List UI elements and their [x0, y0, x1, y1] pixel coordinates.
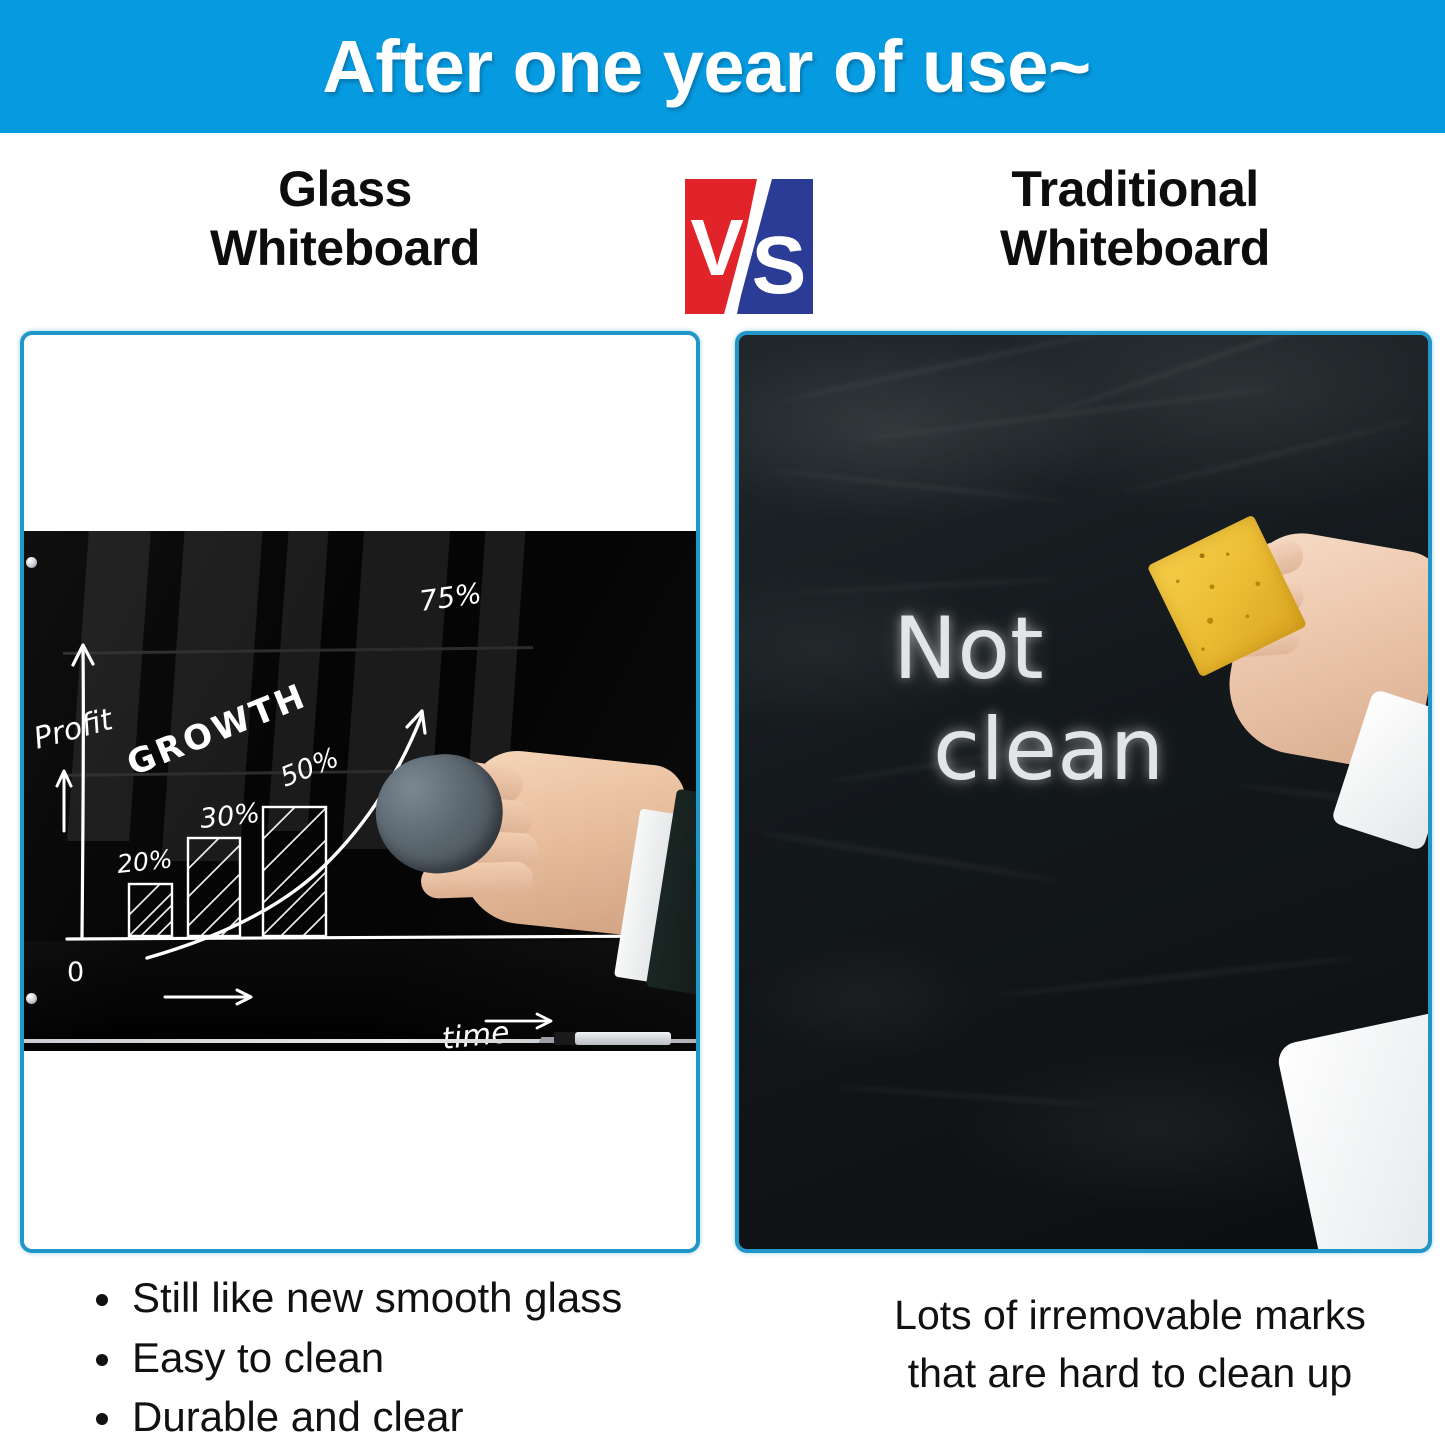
- glass-whiteboard-panel: Profit time GROWTH 20% 30% 50% 75% time …: [20, 331, 700, 1253]
- vs-badge-icon: V S: [679, 175, 819, 318]
- vs-badge-v-letter: V: [690, 203, 743, 292]
- chalk-text-line1: Not: [893, 599, 1044, 699]
- right-column-title: Traditional Whiteboard: [835, 160, 1435, 278]
- traditional-whiteboard-panel: Not clean: [735, 331, 1432, 1253]
- vs-badge-s-letter: S: [752, 220, 807, 311]
- traditional-whiteboard-caption: Lots of irremovable marks that are hard …: [830, 1286, 1430, 1402]
- banner-title: After one year of use~: [322, 24, 1090, 109]
- caption-line1: Lots of irremovable marks: [830, 1286, 1430, 1344]
- glass-sheen: [23, 531, 700, 1051]
- left-column-title-line1: Glass: [20, 160, 670, 219]
- header-banner: After one year of use~: [0, 0, 1445, 133]
- left-column-title: Glass Whiteboard: [20, 160, 670, 278]
- mount-screw-icon: [26, 557, 37, 568]
- caption-line2: that are hard to clean up: [830, 1344, 1430, 1402]
- glass-whiteboard-benefits-list: Still like new smooth glass Easy to clea…: [88, 1268, 728, 1447]
- mount-screw-icon: [26, 993, 37, 1004]
- right-column-title-line1: Traditional: [835, 160, 1435, 219]
- list-item: Still like new smooth glass: [88, 1268, 728, 1328]
- right-column-title-line2: Whiteboard: [835, 219, 1435, 278]
- list-item: Easy to clean: [88, 1328, 728, 1388]
- marker-pen: [575, 1032, 671, 1045]
- glass-whiteboard-photo: Profit time GROWTH 20% 30% 50% 75% time …: [23, 531, 700, 1051]
- list-item: Durable and clear: [88, 1387, 728, 1447]
- left-column-title-line2: Whiteboard: [20, 219, 670, 278]
- chalkboard-photo: Not clean: [738, 334, 1432, 1253]
